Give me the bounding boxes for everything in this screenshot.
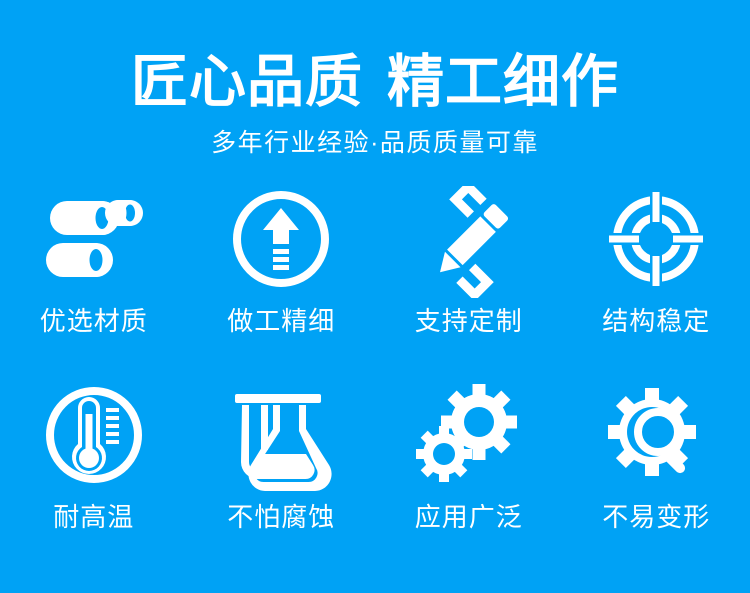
feature-item-stable-structure: 结构稳定 bbox=[563, 186, 750, 374]
gear-magnifier-icon bbox=[600, 382, 712, 494]
feature-item-deformation-resistant: 不易变形 bbox=[563, 382, 750, 570]
title-right: 精工细作 bbox=[387, 50, 619, 114]
feature-label: 支持定制 bbox=[415, 308, 523, 334]
crosshair-target-icon bbox=[600, 186, 712, 298]
promo-banner: 匠心品质精工细作 多年行业经验·品质质量可靠 bbox=[0, 0, 750, 593]
feature-label: 结构稳定 bbox=[602, 308, 710, 334]
feature-label: 优选材质 bbox=[40, 308, 148, 334]
banner-header: 匠心品质精工细作 多年行业经验·品质质量可靠 bbox=[0, 0, 750, 180]
feature-label: 应用广泛 bbox=[415, 504, 523, 530]
feature-label: 耐高温 bbox=[53, 504, 134, 530]
feature-label: 不易变形 bbox=[602, 504, 710, 530]
feature-item-fine-workmanship: 做工精细 bbox=[188, 186, 376, 374]
page-title: 匠心品质精工细作 bbox=[131, 54, 619, 111]
title-left: 匠心品质 bbox=[131, 50, 363, 114]
feature-label: 做工精细 bbox=[227, 308, 335, 334]
pencil-ruler-icon bbox=[413, 186, 525, 298]
page-subtitle: 多年行业经验·品质质量可靠 bbox=[211, 131, 539, 156]
feature-item-corrosion-resistant: 不怕腐蚀 bbox=[188, 382, 376, 570]
feature-item-wide-application: 应用广泛 bbox=[375, 382, 563, 570]
feature-grid: 优选材质 做工精细 bbox=[0, 186, 750, 586]
circle-up-arrow-icon bbox=[225, 186, 337, 298]
flask-testtube-icon bbox=[225, 382, 337, 494]
double-gear-icon bbox=[413, 382, 525, 494]
pipes-icon bbox=[38, 186, 150, 298]
feature-item-premium-material: 优选材质 bbox=[0, 186, 188, 374]
thermometer-circle-icon bbox=[38, 382, 150, 494]
feature-item-customization: 支持定制 bbox=[375, 186, 563, 374]
feature-item-heat-resistant: 耐高温 bbox=[0, 382, 188, 570]
feature-label: 不怕腐蚀 bbox=[227, 504, 335, 530]
